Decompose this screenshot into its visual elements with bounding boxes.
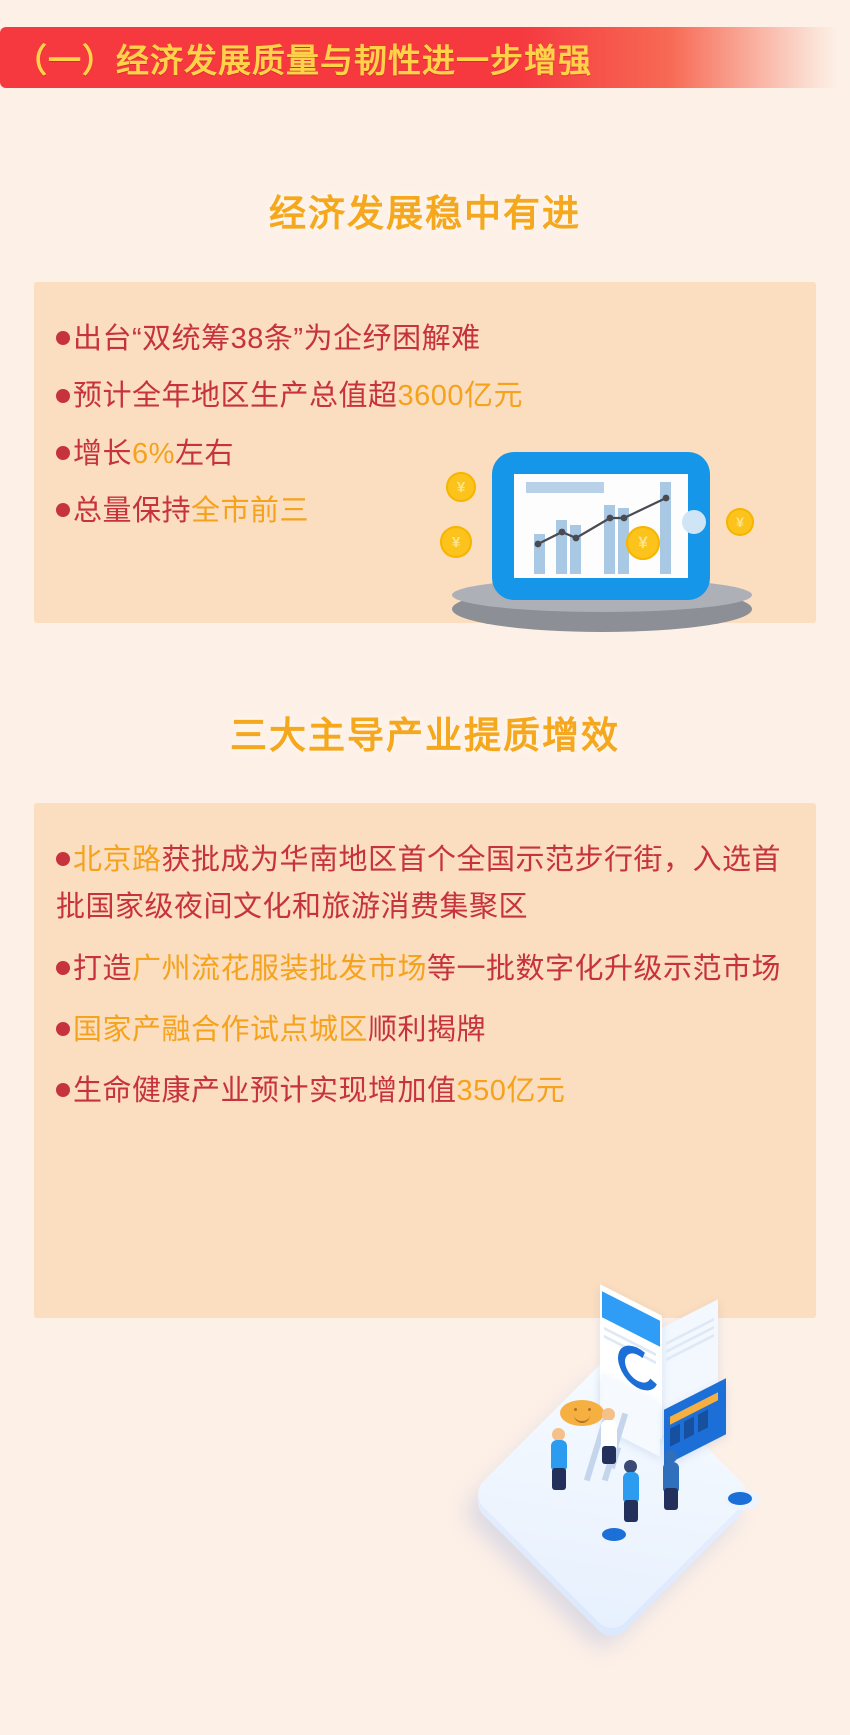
bullet-dot-icon xyxy=(56,503,70,517)
list-item: 生命健康产业预计实现增加值350亿元 xyxy=(56,1068,816,1115)
bullet-text: 打造 xyxy=(73,953,132,985)
bullet-highlight: 350亿元 xyxy=(457,1075,566,1107)
bullet-highlight: 6% xyxy=(132,438,175,470)
person-legs xyxy=(602,1446,616,1464)
list-item: 北京路获批成为华南地区首个全国示范步行街，入选首批国家级夜间文化和旅游消费集聚区 xyxy=(56,837,816,932)
person-legs xyxy=(624,1500,638,1522)
person-body xyxy=(623,1472,639,1502)
person-legs xyxy=(664,1488,678,1510)
bullet-highlight: 广州流花服装批发市场 xyxy=(132,953,427,985)
smiley-eye xyxy=(588,1408,591,1411)
yen-coin-icon: ¥ xyxy=(626,526,660,560)
chart-bar xyxy=(698,1409,708,1432)
bullet-dot-icon xyxy=(56,1083,70,1097)
tablet-screen xyxy=(514,474,688,578)
bullet-highlight: 3600亿元 xyxy=(398,380,524,412)
bullet-highlight: 北京路 xyxy=(73,844,162,876)
bullet-highlight: 全市前三 xyxy=(191,495,309,527)
bullet-highlight: 国家产融合作试点城区 xyxy=(73,1014,368,1046)
list-item: 国家产融合作试点城区顺利揭牌 xyxy=(56,1007,816,1054)
person-body xyxy=(551,1440,567,1470)
smiley-face-icon xyxy=(560,1400,604,1426)
bullet-dot-icon xyxy=(56,1022,70,1036)
smiley-eye xyxy=(574,1408,577,1411)
isometric-team-dashboard-illustration xyxy=(452,1282,850,1612)
bullet-text: 顺利揭牌 xyxy=(368,1014,486,1046)
bullet-text: 预计全年地区生产总值超 xyxy=(73,380,398,412)
header-banner: （一）经济发展质量与韧性进一步增强 xyxy=(0,27,838,88)
yen-coin-icon: ¥ xyxy=(446,472,476,502)
tablet-growth-chart-illustration: ¥ ¥ ¥ ¥ xyxy=(440,438,770,643)
bullet-dot-icon xyxy=(56,852,70,866)
content-card-2: 北京路获批成为华南地区首个全国示范步行街，入选首批国家级夜间文化和旅游消费集聚区… xyxy=(34,803,816,1318)
bullet-dot-icon xyxy=(56,961,70,975)
bullet-text: 增长 xyxy=(73,438,132,470)
bullet-dot-icon xyxy=(56,331,70,345)
floor-disc-accent xyxy=(728,1492,752,1505)
banner-title: （一）经济发展质量与韧性进一步增强 xyxy=(0,34,592,82)
bullet-text: 总量保持 xyxy=(73,495,191,527)
list-item: 打造广州流花服装批发市场等一批数字化升级示范市场 xyxy=(56,946,816,993)
section-title-1: 经济发展稳中有进 xyxy=(0,183,850,237)
bullet-list-2: 北京路获批成为华南地区首个全国示范步行街，入选首批国家级夜间文化和旅游消费集聚区… xyxy=(34,803,816,1115)
infographic-page: （一）经济发展质量与韧性进一步增强 经济发展稳中有进 出台“双统筹38条”为企纾… xyxy=(0,0,850,1735)
section-title-2: 三大主导产业提质增效 xyxy=(0,705,850,759)
bullet-dot-icon xyxy=(56,446,70,460)
smiley-mouth xyxy=(574,1414,590,1423)
yen-coin-icon: ¥ xyxy=(440,526,472,558)
chart-bar xyxy=(670,1424,680,1447)
list-item: 出台“双统筹38条”为企纾困解难 xyxy=(56,316,816,363)
floor-disc-accent xyxy=(602,1528,626,1541)
yen-coin-icon: ¥ xyxy=(726,508,754,536)
tablet-device-shape xyxy=(492,452,710,600)
bullet-text: 生命健康产业预计实现增加值 xyxy=(73,1075,457,1107)
bullet-text: 获批成为华南地区首个全国示范步行街，入选首批国家级夜间文化和旅游消费集聚区 xyxy=(56,844,781,923)
bullet-dot-icon xyxy=(56,389,70,403)
bullet-text: 出台“双统筹38条”为企纾困解难 xyxy=(73,323,481,355)
bullet-text: 左右 xyxy=(175,438,234,470)
person-legs xyxy=(552,1468,566,1490)
trend-line-icon xyxy=(514,474,688,578)
bullet-text: 等一批数字化升级示范市场 xyxy=(427,953,781,985)
chart-bar xyxy=(684,1417,694,1440)
list-item: 预计全年地区生产总值超3600亿元 xyxy=(56,373,816,420)
tablet-home-button xyxy=(682,510,706,534)
